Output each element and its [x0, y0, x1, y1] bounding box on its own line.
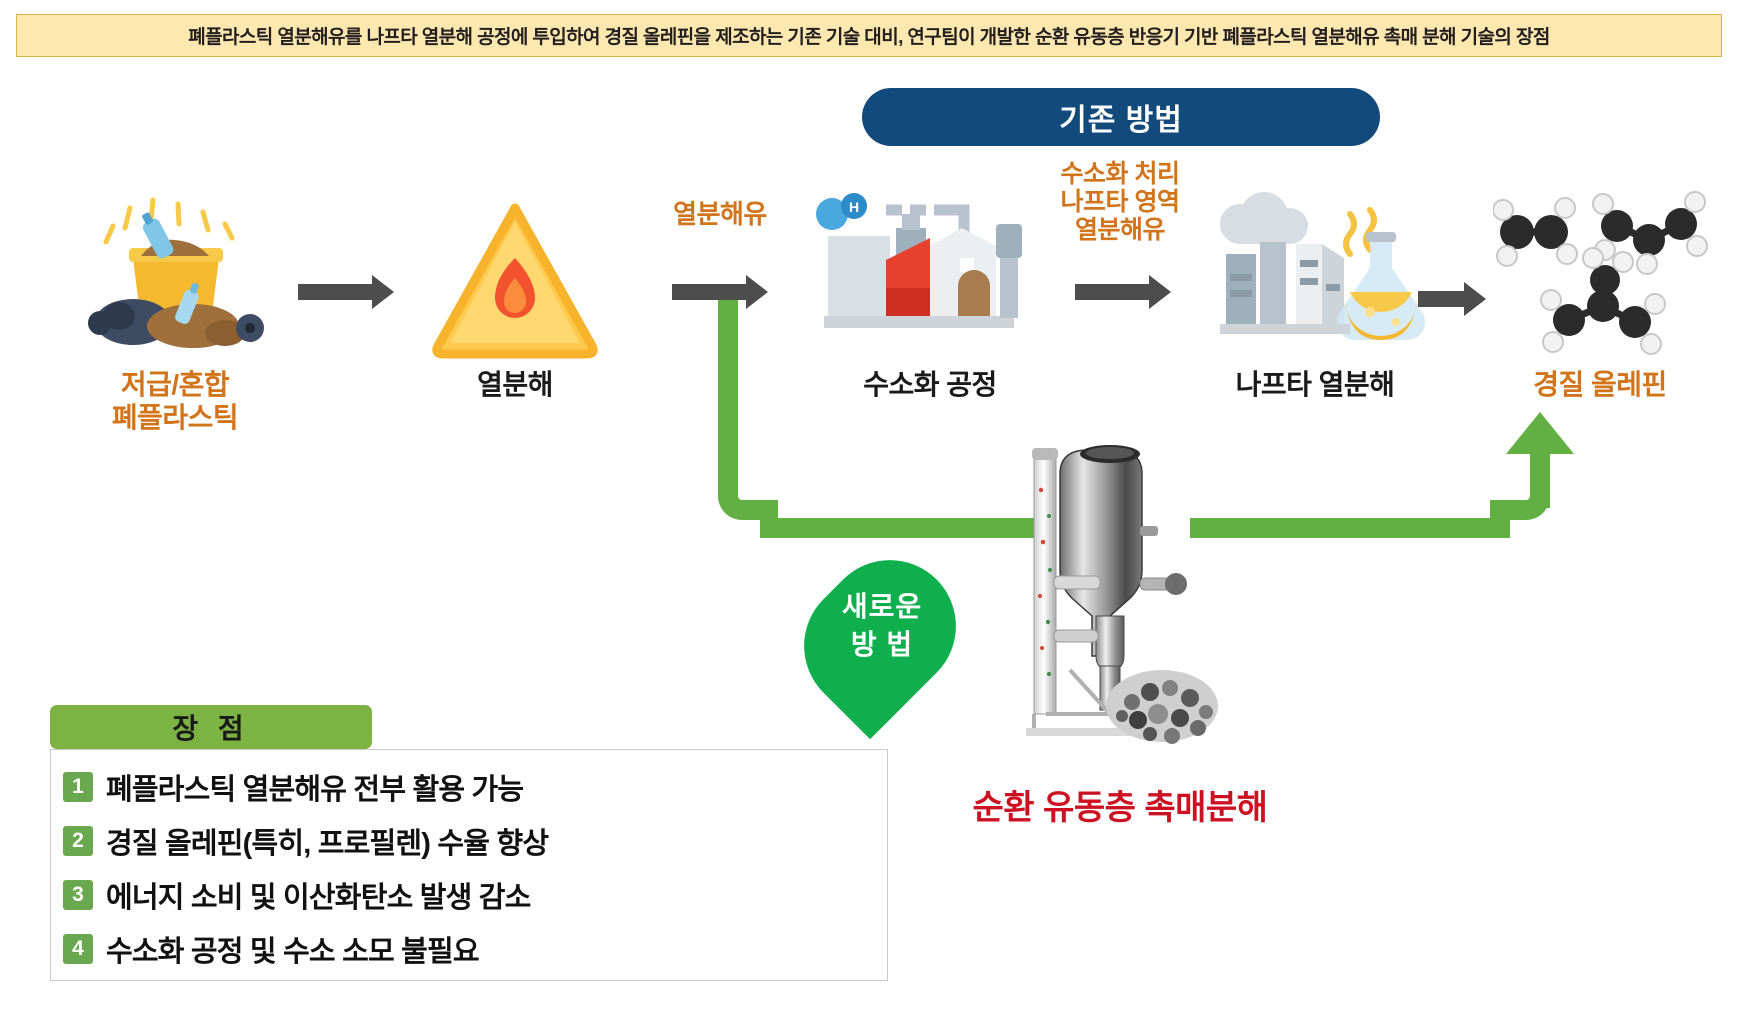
advantage-text: 폐플라스틱 열분해유 전부 활용 가능	[106, 766, 523, 808]
list-item: 2 경질 올레핀(특히, 프로필렌) 수율 향상	[63, 814, 887, 868]
advantage-number-badge: 4	[63, 934, 93, 964]
process-step-label: 수소화 공정	[800, 368, 1060, 401]
recycle-path-corner-left	[718, 460, 778, 520]
advantage-number-badge: 3	[63, 880, 93, 910]
recycle-path-segment-right	[1190, 518, 1510, 538]
naphtha-cracker-factory-icon	[1180, 185, 1450, 360]
advantage-text: 에너지 소비 및 이산화탄소 발생 감소	[106, 874, 531, 916]
flow-arrow-2-icon	[672, 275, 768, 309]
list-item: 4 수소화 공정 및 수소 소모 불필요	[63, 922, 887, 976]
existing-method-label: 기존 방법	[1059, 95, 1183, 139]
arrow-label-hydrotreated-naphtha: 수소화 처리 나프타 영역 열분해유	[1020, 160, 1220, 244]
flow-arrow-3-icon	[1075, 275, 1171, 309]
process-step-label: 열분해	[395, 368, 635, 401]
reactor-caption: 순환 유동층 촉매분해	[900, 780, 1340, 829]
advantage-number-badge: 1	[63, 772, 93, 802]
svg-text:H: H	[849, 199, 859, 215]
advantages-header: 장 점	[50, 705, 372, 749]
recycle-path-arrowhead-icon	[1506, 412, 1574, 454]
process-step-pyrolysis: 열분해	[395, 185, 635, 401]
arrow-label-pyrolysis-oil: 열분해유	[650, 200, 790, 229]
waste-plastic-bags-icon	[45, 185, 305, 360]
flow-arrow-1-icon	[298, 275, 394, 309]
process-step-label: 경질 올레핀	[1480, 368, 1720, 401]
advantages-title: 장 점	[172, 707, 249, 747]
recycle-path-segment-down	[718, 288, 738, 478]
advantage-text: 경질 올레핀(특히, 프로필렌) 수율 향상	[106, 820, 548, 862]
title-banner: 폐플라스틱 열분해유를 나프타 열분해 공정에 투입하여 경질 올레핀을 제조하…	[16, 14, 1722, 57]
list-item: 3 에너지 소비 및 이산화탄소 발생 감소	[63, 868, 887, 922]
pyrolysis-flame-warning-icon	[395, 185, 635, 360]
infographic-canvas: 폐플라스틱 열분해유를 나프타 열분해 공정에 투입하여 경질 올레핀을 제조하…	[0, 0, 1741, 1009]
existing-method-badge: 기존 방법	[862, 88, 1380, 146]
recycle-path-segment-up	[1530, 448, 1550, 508]
new-method-label: 새로운 방 법	[812, 588, 952, 664]
circulating-fluidized-bed-reactor-photo	[1010, 430, 1220, 750]
process-step-label: 저급/혼합 폐플라스틱	[45, 368, 305, 434]
process-step-waste-plastic: 저급/혼합 폐플라스틱	[45, 185, 305, 434]
list-item: 1 폐플라스틱 열분해유 전부 활용 가능	[63, 760, 887, 814]
advantage-number-badge: 2	[63, 826, 93, 856]
recycle-path-segment-left	[760, 518, 1040, 538]
advantages-list: 1 폐플라스틱 열분해유 전부 활용 가능 2 경질 올레핀(특히, 프로필렌)…	[50, 749, 888, 981]
banner-title-text: 폐플라스틱 열분해유를 나프타 열분해 공정에 투입하여 경질 올레핀을 제조하…	[188, 22, 1549, 49]
process-step-light-olefins: 경질 올레핀	[1480, 185, 1720, 401]
advantage-text: 수소화 공정 및 수소 소모 불필요	[106, 928, 479, 970]
process-step-label: 나프타 열분해	[1180, 368, 1450, 401]
process-step-naphtha-cracking: 나프타 열분해	[1180, 185, 1450, 401]
flow-arrow-4-icon	[1418, 282, 1484, 316]
olefin-molecules-icon	[1480, 185, 1720, 360]
